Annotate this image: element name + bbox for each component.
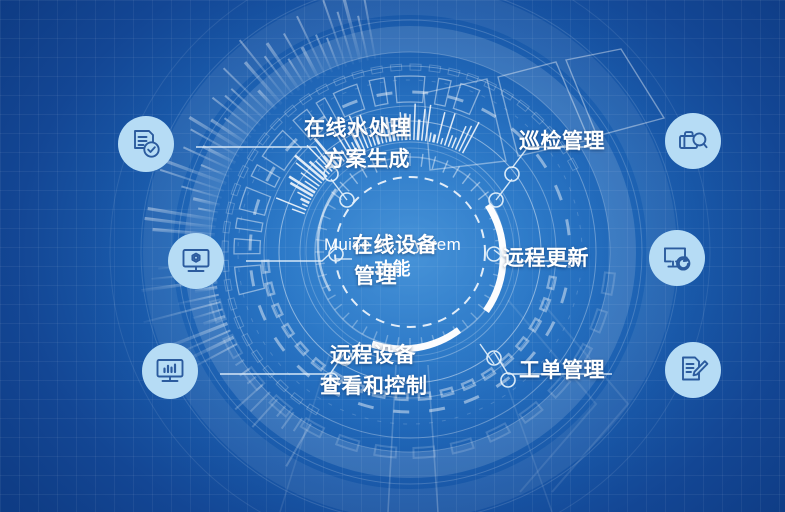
infographic-canvas: Muise X . System 功能 在线水处理 方案生成 <box>0 0 785 512</box>
feature-online-device-management[interactable]: 在线设备 管理 <box>168 230 438 292</box>
feature-online-water-treatment-plan[interactable]: 在线水处理 方案生成 <box>118 113 412 175</box>
feature-line2: 管理 <box>286 261 438 292</box>
document-check-icon <box>118 116 174 172</box>
feature-line1: 在线水处理 <box>236 113 412 144</box>
monitor-gear-icon <box>168 233 224 289</box>
feature-inspection-management[interactable]: 巡检管理 <box>519 113 721 169</box>
feature-label: 巡检管理 <box>519 126 605 157</box>
feature-label: 工单管理 <box>519 355 605 386</box>
feature-label: 在线设备 管理 <box>286 230 438 292</box>
feature-line2: 方案生成 <box>236 144 412 175</box>
feature-label: 远程更新 <box>503 243 589 274</box>
document-pen-icon <box>665 342 721 398</box>
feature-remote-device-view-control[interactable]: 远程设备 查看和控制 <box>142 340 428 402</box>
feature-label: 远程设备 查看和控制 <box>260 340 428 402</box>
feature-line2: 查看和控制 <box>260 371 428 402</box>
monitor-refresh-icon <box>649 230 705 286</box>
briefcase-search-icon <box>665 113 721 169</box>
feature-line1: 远程更新 <box>503 247 589 270</box>
monitor-chart-icon <box>142 343 198 399</box>
feature-line1: 巡检管理 <box>519 126 605 157</box>
feature-line1: 工单管理 <box>519 359 605 382</box>
feature-label: 在线水处理 方案生成 <box>236 113 412 175</box>
feature-line1: 远程设备 <box>260 340 428 371</box>
feature-remote-update[interactable]: 远程更新 <box>503 230 705 286</box>
feature-work-order-management[interactable]: 工单管理 <box>519 342 721 398</box>
feature-line1: 在线设备 <box>286 230 438 261</box>
